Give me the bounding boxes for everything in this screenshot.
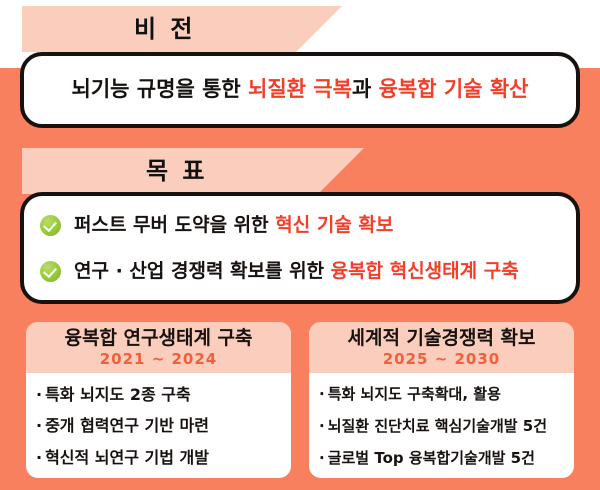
vision-banner-label: 비 전: [134, 17, 196, 41]
check-circle-icon: [40, 261, 61, 282]
phase-2-item-label: 특화 뇌지도 구축확대, 활용: [328, 385, 501, 403]
highlighted-text-run: 뇌질환 극복: [248, 77, 352, 101]
phase-2-period: 2025 ~ 2030: [309, 350, 574, 368]
text-run: 뇌기능 규명을 통한: [72, 77, 249, 101]
phase-card-1: 융복합 연구생태계 구축 2021 ~ 2024 ·특화 뇌지도 2종 구축 ·…: [22, 318, 295, 482]
text-run: 과: [352, 77, 379, 101]
phase-2-header: 세계적 기술경쟁력 확보 2025 ~ 2030: [309, 322, 574, 373]
phase-1-list-item: ·중개 협력연구 기반 마련: [36, 417, 291, 435]
phase-2-list-item: ·특화 뇌지도 구축확대, 활용: [319, 386, 574, 403]
goal-list-item: 연구 · 산업 경쟁력 확보를 위한 융복합 혁신생태계 구축: [24, 248, 576, 294]
phase-2-list-item: ·뇌질환 진단치료 핵심기술개발 5건: [319, 418, 574, 435]
phase-1-item-label: 혁신적 뇌연구 기법 개발: [45, 448, 209, 467]
vision-statement-text: 뇌기능 규명을 통한 뇌질환 극복과 융복합 기술 확산: [24, 77, 576, 102]
phase-2-item-list: ·특화 뇌지도 구축확대, 활용 ·뇌질환 진단치료 핵심기술개발 5건 ·글로…: [309, 373, 574, 478]
highlighted-text-run: 혁신 기술 확보: [275, 214, 393, 236]
phase-1-item-label: 특화 뇌지도 2종 구축: [45, 385, 191, 404]
highlighted-text-run: 융복합 혁신생태계 구축: [331, 260, 519, 282]
check-circle-icon: [40, 215, 61, 236]
bullet-dot-icon: ·: [319, 450, 325, 467]
goal-item-text: 퍼스트 무버 도약을 위한 혁신 기술 확보: [74, 216, 393, 235]
phase-2-list-item: ·글로벌 Top 융복합기술개발 5건: [319, 450, 574, 467]
phase-1-period: 2021 ~ 2024: [26, 350, 291, 368]
goal-section-banner: 목 표: [22, 148, 364, 194]
goal-banner-label: 목 표: [146, 159, 208, 183]
phase-1-item-label: 중개 협력연구 기반 마련: [45, 416, 209, 435]
phase-1-title: 융복합 연구생태계 구축: [26, 328, 291, 350]
bullet-dot-icon: ·: [319, 386, 325, 403]
text-run: 연구 · 산업 경쟁력 확보를 위한: [74, 260, 331, 282]
phase-1-list-item: ·특화 뇌지도 2종 구축: [36, 386, 291, 404]
phase-2-item-label: 글로벌 Top 융복합기술개발 5건: [328, 449, 535, 467]
bullet-dot-icon: ·: [36, 386, 42, 404]
vision-goal-roadmap-infographic: 비 전 뇌기능 규명을 통한 뇌질환 극복과 융복합 기술 확산 목 표 퍼스트…: [0, 0, 600, 490]
goal-item-text: 연구 · 산업 경쟁력 확보를 위한 융복합 혁신생태계 구축: [74, 262, 519, 281]
text-run: 퍼스트 무버 도약을 위한: [74, 214, 275, 236]
phase-1-list-item: ·혁신적 뇌연구 기법 개발: [36, 449, 291, 467]
bullet-dot-icon: ·: [36, 417, 42, 435]
phase-2-title: 세계적 기술경쟁력 확보: [309, 328, 574, 350]
vision-section-banner: 비 전: [22, 6, 342, 52]
bullet-dot-icon: ·: [36, 449, 42, 467]
phase-1-item-list: ·특화 뇌지도 2종 구축 ·중개 협력연구 기반 마련 ·혁신적 뇌연구 기법…: [26, 373, 291, 478]
vision-statement-box: 뇌기능 규명을 통한 뇌질환 극복과 융복합 기술 확산: [20, 52, 580, 128]
phase-1-header: 융복합 연구생태계 구축 2021 ~ 2024: [26, 322, 291, 373]
goal-statement-box: 퍼스트 무버 도약을 위한 혁신 기술 확보 연구 · 산업 경쟁력 확보를 위…: [20, 192, 580, 304]
highlighted-text-run: 융복합 기술 확산: [379, 77, 529, 101]
bullet-dot-icon: ·: [319, 418, 325, 435]
goal-list-item: 퍼스트 무버 도약을 위한 혁신 기술 확보: [24, 202, 576, 248]
phase-card-2: 세계적 기술경쟁력 확보 2025 ~ 2030 ·특화 뇌지도 구축확대, 활…: [305, 318, 578, 482]
phase-2-item-label: 뇌질환 진단치료 핵심기술개발 5건: [328, 417, 547, 435]
